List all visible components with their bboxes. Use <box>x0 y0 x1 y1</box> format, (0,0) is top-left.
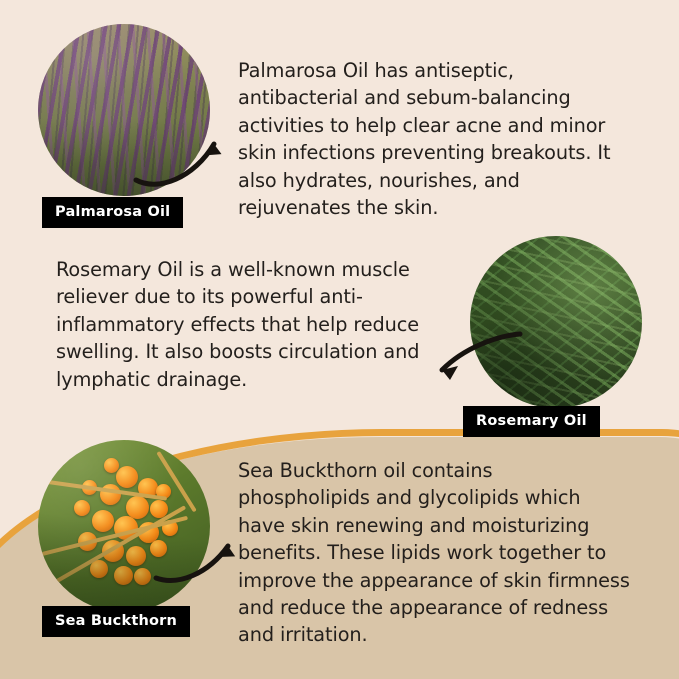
sea-buckthorn-photo-shading <box>38 440 210 612</box>
sea-buckthorn-description: Sea Buckthorn oil contains phospholipids… <box>238 457 630 649</box>
rosemary-description: Rosemary Oil is a well-known muscle reli… <box>56 256 446 393</box>
rosemary-photo <box>470 236 642 408</box>
infographic-page: Palmarosa Oil Rosemary Oil Sea Buckthorn… <box>0 0 679 679</box>
sea-buckthorn-label: Sea Buckthorn <box>42 606 190 637</box>
sea-buckthorn-photo <box>38 440 210 612</box>
palmarosa-description: Palmarosa Oil has antiseptic, antibacter… <box>238 57 638 221</box>
rosemary-photo-shading <box>470 236 642 408</box>
rosemary-label: Rosemary Oil <box>463 406 600 437</box>
palmarosa-label: Palmarosa Oil <box>42 197 183 228</box>
palmarosa-photo <box>38 24 210 196</box>
palmarosa-photo-shading <box>38 24 210 196</box>
